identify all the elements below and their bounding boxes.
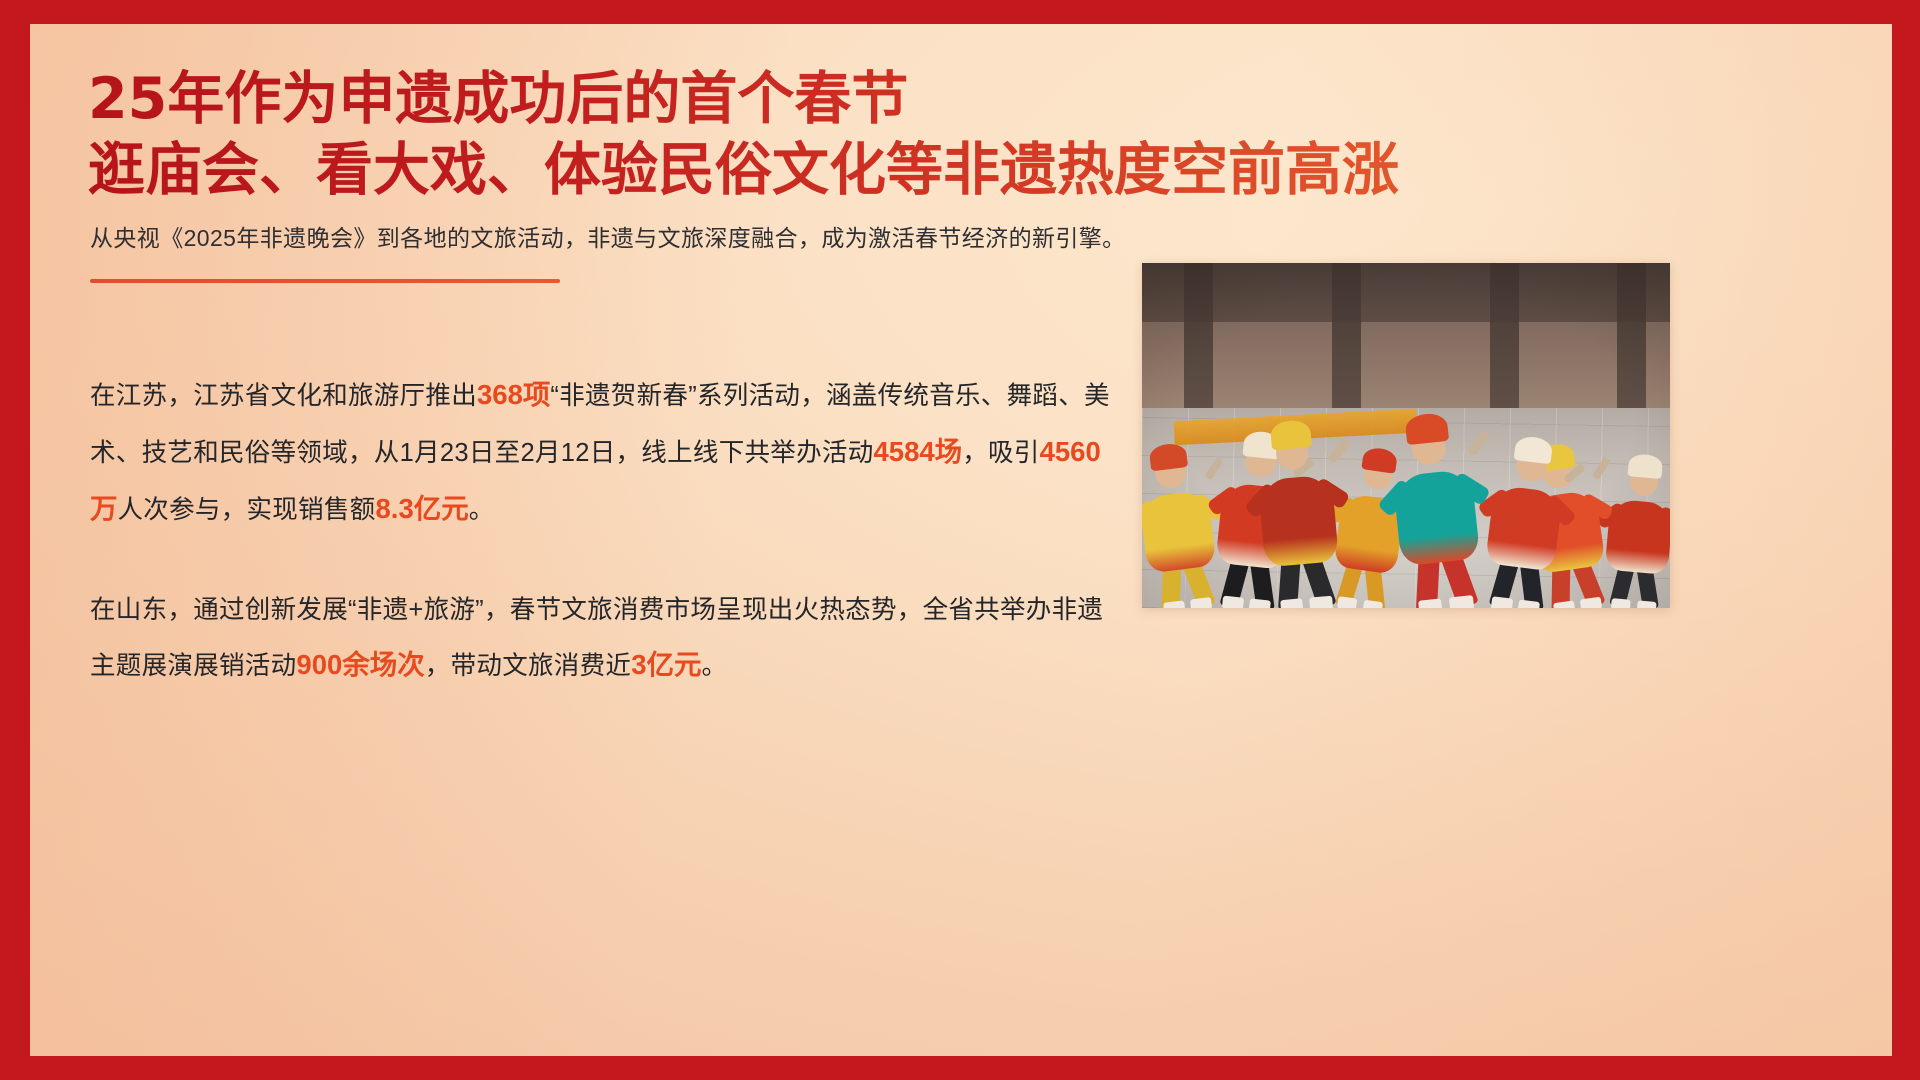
content-area: 25年作为申遗成功后的首个春节 逛庙会、看大戏、体验民俗文化等非遗热度空前高涨 …	[30, 24, 1892, 694]
paragraph-jiangsu: 在江苏，江苏省文化和旅游厅推出368项“非遗贺新春”系列活动，涵盖传统音乐、舞蹈…	[90, 367, 1110, 538]
highlighted-figure: 8.3亿元	[376, 493, 469, 524]
highlighted-figure: 900余场次	[296, 649, 424, 680]
headline-line-1: 25年作为申遗成功后的首个春节	[88, 66, 1836, 133]
highlighted-figure: 368项	[477, 379, 550, 410]
dancer-boot	[1190, 596, 1212, 608]
paragraph-shandong: 在山东，通过创新发展“非遗+旅游”，春节文旅消费市场呈现出火热态势，全省共举办非…	[90, 584, 1110, 694]
dancer-boot	[1491, 596, 1513, 608]
dancer-boot	[1611, 598, 1631, 608]
body-text-run: 人次参与，实现销售额	[118, 496, 376, 524]
body-text-run: 。	[469, 496, 495, 524]
body-section: 在江苏，江苏省文化和旅游厅推出368项“非遗贺新春”系列活动，涵盖传统音乐、舞蹈…	[88, 367, 1836, 693]
page-title: 25年作为申遗成功后的首个春节 逛庙会、看大戏、体验民俗文化等非遗热度空前高涨	[88, 66, 1836, 203]
poster-frame: 25年作为申遗成功后的首个春节 逛庙会、看大戏、体验民俗文化等非遗热度空前高涨 …	[0, 0, 1920, 1080]
folk-dance-performance-photo	[1142, 263, 1670, 608]
body-text-run: ，吸引	[962, 439, 1039, 467]
body-text-run: 在江苏，江苏省文化和旅游厅推出	[90, 382, 477, 410]
photo-dancer-figure	[1601, 465, 1670, 609]
body-text-run: 。	[702, 652, 728, 680]
photo-dancer-figure	[1142, 454, 1221, 609]
dancer-boot	[1221, 596, 1243, 608]
headline-line-2: 逛庙会、看大戏、体验民俗文化等非遗热度空前高涨	[88, 137, 1836, 204]
dancer-boot	[1309, 596, 1332, 609]
photo-dancer-figure	[1254, 433, 1343, 608]
photo-dancer-figure	[1387, 426, 1485, 609]
body-text-column: 在江苏，江苏省文化和旅游厅推出368项“非遗贺新春”系列活动，涵盖传统音乐、舞蹈…	[88, 367, 1110, 693]
poster-canvas: 25年作为申遗成功后的首个春节 逛庙会、看大戏、体验民俗文化等非遗热度空前高涨 …	[30, 24, 1892, 1056]
dancer-boot	[1362, 600, 1382, 608]
dancer-boot	[1449, 595, 1474, 609]
divider	[90, 279, 560, 283]
highlighted-figure: 3亿元	[631, 649, 701, 680]
subtitle: 从央视《2025年非遗晚会》到各地的文旅活动，非遗与文旅深度融合，成为激活春节经…	[90, 219, 1836, 253]
highlighted-figure: 4584场	[874, 436, 963, 467]
body-text-run: ，带动文旅消费近	[425, 652, 631, 680]
photo-column	[1142, 263, 1670, 608]
dancer-boot	[1637, 600, 1657, 608]
dancer-boot	[1418, 598, 1443, 608]
dancer-boot	[1280, 598, 1303, 608]
